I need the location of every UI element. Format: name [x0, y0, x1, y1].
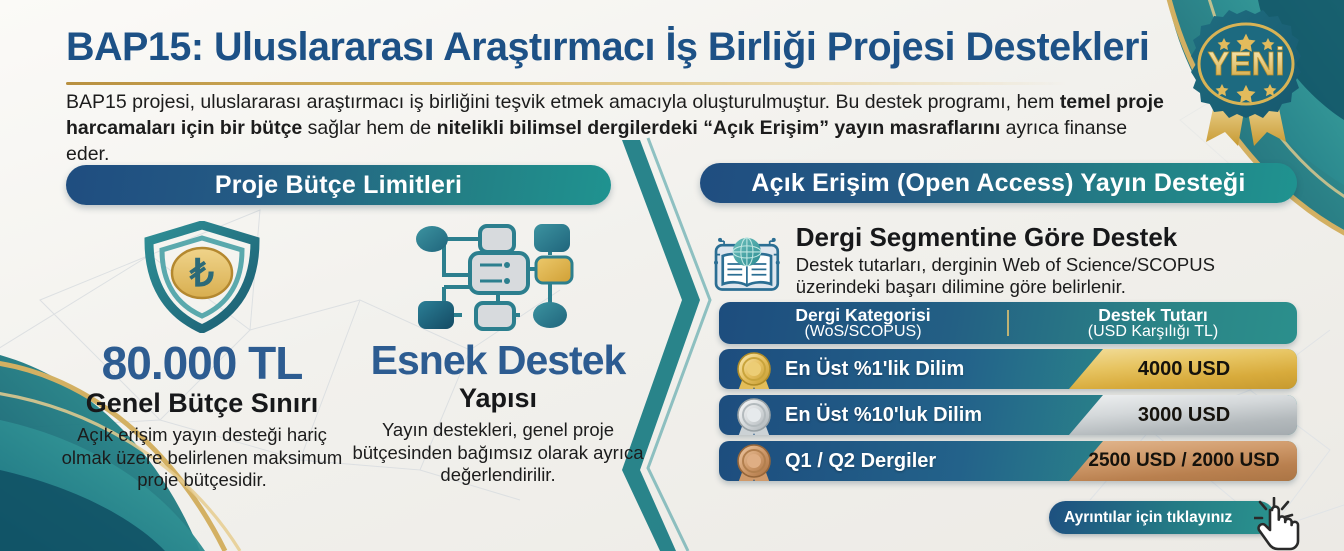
column-header-amount: Destek Tutarı (USD Karşılığı TL)	[1009, 306, 1297, 341]
budget-description: Açık erişim yayın desteği hariç olmak üz…	[56, 424, 348, 491]
section-heading-budget-limits: Proje Bütçe Limitleri	[66, 165, 611, 205]
bronze-medal-icon	[731, 443, 777, 481]
budget-amount: 80.000 TL	[56, 340, 348, 386]
yeni-badge-label: YENİ	[1207, 45, 1284, 82]
svg-text:₺: ₺	[189, 253, 214, 295]
column-header-category: Dergi Kategorisi (WoS/SCOPUS)	[719, 306, 1007, 341]
intro-paragraph: BAP15 projesi, uluslararası araştırmacı …	[66, 90, 1171, 168]
cta-label: Ayrıntılar için tıklayınız	[1064, 509, 1232, 527]
infographic-root: BAP15: Uluslararası Araştırmacı İş Birli…	[0, 0, 1344, 551]
table-row: En Üst %1'lik Dilim 4000 USD	[719, 349, 1297, 389]
network-nodes-icon	[352, 218, 644, 336]
details-cta-button[interactable]: Ayrıntılar için tıklayınız	[1049, 501, 1275, 534]
table-row: En Üst %10'luk Dilim 3000 USD	[719, 395, 1297, 435]
flexible-support-description: Yayın destekleri, genel proje bütçesinde…	[352, 419, 644, 486]
flexible-support-title: Esnek Destek	[352, 340, 644, 381]
journal-support-subtitle: Destek tutarları, derginin Web of Scienc…	[796, 254, 1302, 298]
shield-lira-icon: ₺	[56, 218, 348, 336]
flexible-support-subtitle: Yapısı	[352, 384, 644, 412]
badge-starburst: YENİ	[1191, 10, 1301, 118]
open-book-globe-icon	[712, 220, 782, 308]
row-category-label: En Üst %1'lik Dilim	[785, 349, 964, 389]
header-divider	[1007, 310, 1009, 336]
journal-support-header: Dergi Segmentine Göre Destek Destek tuta…	[712, 220, 1302, 308]
budget-subtitle: Genel Bütçe Sınırı	[56, 389, 348, 417]
card-flexible-support: Esnek Destek Yapısı Yayın destekleri, ge…	[352, 218, 644, 486]
card-budget-limit: ₺ 80.000 TL Genel Bütçe Sınırı Açık eriş…	[56, 218, 348, 491]
row-amount-value: 2500 USD / 2000 USD	[1071, 441, 1297, 481]
section-heading-open-access: Açık Erişim (Open Access) Yayın Desteği	[700, 163, 1297, 203]
yeni-badge: YENİ	[1172, 8, 1320, 148]
page-title: BAP15: Uluslararası Araştırmacı İş Birli…	[66, 26, 1156, 69]
table-header-row: Dergi Kategorisi (WoS/SCOPUS) Destek Tut…	[719, 302, 1297, 344]
gold-medal-icon	[731, 351, 777, 389]
journal-support-title: Dergi Segmentine Göre Destek	[796, 224, 1302, 251]
title-underline	[66, 82, 1066, 85]
row-category-label: En Üst %10'luk Dilim	[785, 395, 982, 435]
click-hand-icon	[1254, 497, 1310, 551]
row-amount-value: 3000 USD	[1071, 395, 1297, 435]
table-row: Q1 / Q2 Dergiler 2500 USD / 2000 USD	[719, 441, 1297, 481]
row-amount-value: 4000 USD	[1071, 349, 1297, 389]
silver-medal-icon	[731, 397, 777, 435]
row-category-label: Q1 / Q2 Dergiler	[785, 441, 936, 481]
